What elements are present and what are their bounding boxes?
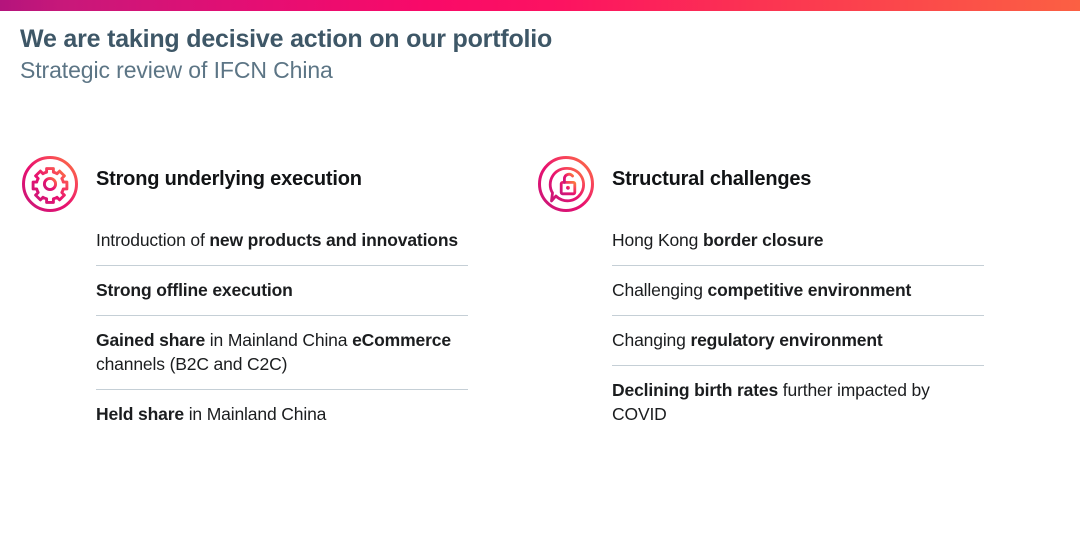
emphasis-text: border closure	[703, 230, 823, 250]
list-item: Held share in Mainland China	[96, 389, 468, 439]
column-header: Structural challenges	[534, 150, 994, 216]
list-item: Gained share in Mainland China eCommerce…	[96, 315, 468, 389]
body-text: in Mainland China	[184, 404, 326, 424]
column-strong-underlying-execution: Strong underlying execution Introduction…	[18, 150, 478, 439]
emphasis-text: Held share	[96, 404, 184, 424]
list-item: Changing regulatory environment	[612, 315, 984, 365]
emphasis-text: eCommerce	[352, 330, 451, 350]
bullet-list: Introduction of new products and innovat…	[96, 216, 468, 439]
list-item: Hong Kong border closure	[612, 216, 984, 265]
column-title: Strong underlying execution	[96, 166, 362, 192]
body-text: Changing	[612, 330, 690, 350]
column-structural-challenges: Structural challenges Hong Kong border c…	[534, 150, 994, 439]
list-item: Introduction of new products and innovat…	[96, 216, 468, 265]
body-text: Hong Kong	[612, 230, 703, 250]
page-subtitle: Strategic review of IFCN China	[20, 56, 920, 84]
list-item: Challenging competitive environment	[612, 265, 984, 315]
emphasis-text: competitive environment	[708, 280, 912, 300]
column-title: Structural challenges	[612, 166, 811, 192]
list-item: Declining birth rates further impacted b…	[612, 365, 984, 439]
gear-circle-icon	[20, 154, 80, 214]
bullet-list: Hong Kong border closureChallenging comp…	[612, 216, 984, 439]
unlocked-padlock-speech-bubble-circle-icon	[536, 154, 596, 214]
emphasis-text: regulatory environment	[690, 330, 882, 350]
body-text: channels (B2C and C2C)	[96, 354, 287, 374]
emphasis-text: Declining birth rates	[612, 380, 778, 400]
emphasis-text: Gained share	[96, 330, 205, 350]
slide-header: We are taking decisive action on our por…	[20, 24, 920, 84]
brand-gradient-bar	[0, 0, 1080, 11]
emphasis-text: new products and innovations	[209, 230, 458, 250]
emphasis-text: Strong offline execution	[96, 280, 293, 300]
body-text: in Mainland China	[205, 330, 352, 350]
column-header: Strong underlying execution	[18, 150, 478, 216]
body-text: Challenging	[612, 280, 708, 300]
page-title: We are taking decisive action on our por…	[20, 24, 920, 54]
list-item: Strong offline execution	[96, 265, 468, 315]
body-text: Introduction of	[96, 230, 209, 250]
